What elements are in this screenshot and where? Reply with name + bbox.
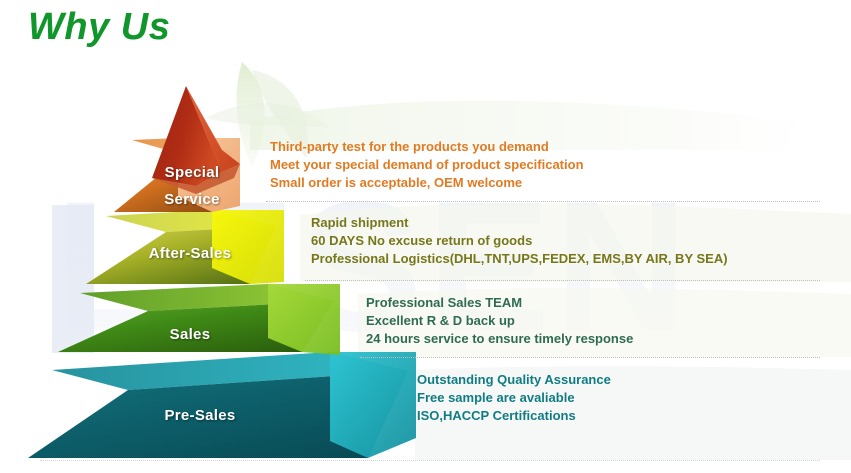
panel-after-sales-line-3: Professional Logistics(DHL,TNT,UPS,FEDEX… xyxy=(311,250,728,268)
panel-special-service: Third-party test for the products you de… xyxy=(270,138,584,192)
panel-sales-line-3: 24 hours service to ensure timely respon… xyxy=(366,330,633,348)
panel-after-sales-line-1: Rapid shipment xyxy=(311,214,728,232)
panel-sales: Professional Sales TEAM Excellent R & D … xyxy=(366,294,633,348)
panel-sales-line-1: Professional Sales TEAM xyxy=(366,294,633,312)
slide-canvas: LESEN Why Us xyxy=(0,0,851,473)
panel-pre-sales-line-3: ISO,HACCP Certifications xyxy=(417,407,611,425)
divider-baseline xyxy=(40,460,820,461)
tier-label-after-sales: After-Sales xyxy=(110,245,270,262)
panel-after-sales: Rapid shipment 60 DAYS No excuse return … xyxy=(311,214,728,268)
tier-label-special-service-line1: Special xyxy=(128,164,256,181)
panel-pre-sales-line-2: Free sample are avaliable xyxy=(417,389,611,407)
divider-3 xyxy=(360,357,820,358)
pyramid-tier-pre-sales xyxy=(28,352,416,458)
tier-label-special-service-line2: Service xyxy=(128,191,256,208)
panel-special-service-line-2: Meet your special demand of product spec… xyxy=(270,156,584,174)
panel-special-service-line-3: Small order is acceptable, OEM welcome xyxy=(270,174,584,192)
tier-label-pre-sales: Pre-Sales xyxy=(110,407,290,424)
panel-pre-sales: Outstanding Quality Assurance Free sampl… xyxy=(417,371,611,425)
panel-sales-line-2: Excellent R & D back up xyxy=(366,312,633,330)
panel-pre-sales-line-1: Outstanding Quality Assurance xyxy=(417,371,611,389)
tier-label-sales: Sales xyxy=(110,326,270,343)
panel-after-sales-line-2: 60 DAYS No excuse return of goods xyxy=(311,232,728,250)
divider-2 xyxy=(305,280,820,281)
divider-1 xyxy=(266,201,820,202)
pyramid-tier-sales xyxy=(58,284,340,355)
panel-special-service-line-1: Third-party test for the products you de… xyxy=(270,138,584,156)
